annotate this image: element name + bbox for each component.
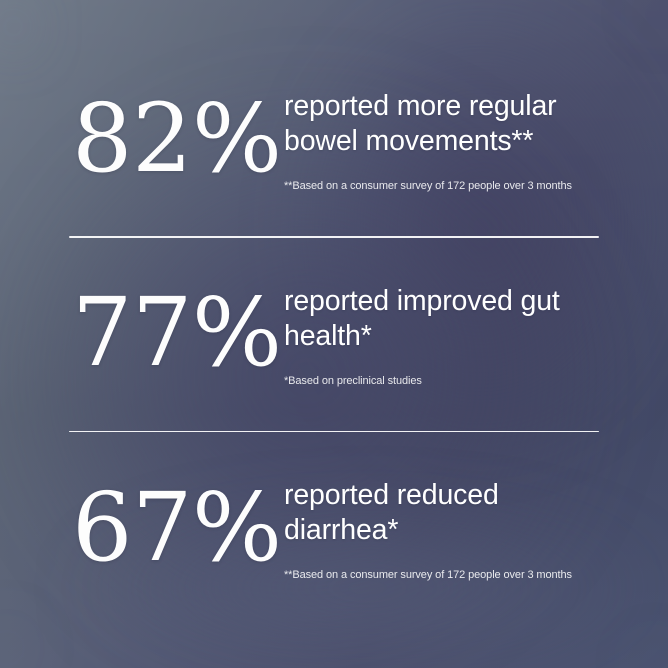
stat-figure: 77% — [46, 238, 284, 431]
stat-value: 67% — [72, 485, 282, 572]
stat-figure: 82% — [46, 43, 284, 236]
stat-value: 77% — [72, 290, 282, 377]
stats-list: 82% reported more regular bowel movement… — [0, 0, 668, 668]
stat-row: 77% reported improved gut health* *Based… — [46, 238, 622, 431]
stat-headline: reported more regular bowel movements** — [284, 89, 584, 159]
stat-row: 82% reported more regular bowel movement… — [46, 43, 622, 236]
stat-body: reported improved gut health* *Based on … — [284, 238, 622, 431]
stat-figure: 67% — [46, 432, 284, 625]
stats-panel: 82% reported more regular bowel movement… — [0, 0, 668, 668]
stat-headline: reported improved gut health* — [284, 284, 584, 354]
stat-body: reported more regular bowel movements** … — [284, 43, 622, 236]
stat-headline: reported reduced diarrhea* — [284, 478, 584, 548]
stat-value: 82% — [72, 96, 282, 183]
stat-footnote: **Based on a consumer survey of 172 peop… — [284, 179, 622, 194]
stat-footnote: **Based on a consumer survey of 172 peop… — [284, 568, 622, 583]
stat-row: 67% reported reduced diarrhea* **Based o… — [46, 432, 622, 625]
stat-footnote: *Based on preclinical studies — [284, 374, 622, 389]
stat-body: reported reduced diarrhea* **Based on a … — [284, 432, 622, 625]
